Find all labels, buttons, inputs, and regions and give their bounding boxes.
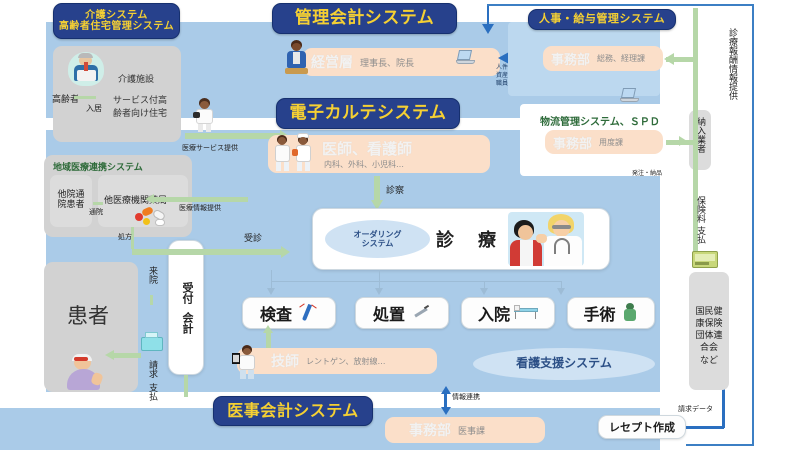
insurance-org-line1: 国民健 — [689, 306, 729, 318]
frame-right — [752, 4, 754, 446]
insurance-green-branch-spd — [666, 140, 696, 145]
reception-down-connector — [184, 375, 188, 397]
test-tube-icon — [298, 303, 318, 323]
claim-data-line — [686, 426, 724, 429]
insurance-green-branch-hr — [666, 57, 696, 62]
medical-info-label: 医療情報提供 — [179, 203, 221, 213]
insurance-org-line2: 康保険 — [689, 318, 729, 330]
other-patients-line1: 他院通 — [50, 190, 92, 200]
proc-arrow-4 — [557, 288, 565, 295]
management-laptop-icon — [456, 50, 478, 66]
hr-payroll-label: 人事・給与管理システム — [539, 13, 665, 25]
medical-office-role-main: 事務部 — [409, 420, 451, 440]
consult-label: 受診 — [244, 231, 262, 244]
care-system-pill[interactable]: 介護システム 高齢者住宅管理システム — [53, 3, 180, 39]
premium-line1: 保険料 — [694, 196, 707, 223]
ordering-line1: オーダリング — [354, 230, 402, 239]
procedure-label-1: 処置 — [373, 301, 405, 325]
procedure-box-1[interactable]: 処置 — [355, 297, 449, 329]
proc-arrow-3 — [480, 288, 488, 295]
medical-office-role-bar: 事務部 医事課 — [385, 417, 545, 443]
other-patients-label: 他院通 院患者 — [50, 190, 92, 211]
medical-info-arrow — [153, 197, 248, 202]
doctor-nurse-icon — [274, 133, 318, 173]
management-accounting-label: 管理会計システム — [295, 9, 435, 28]
hospital-bed-icon — [514, 304, 538, 322]
exam-down-arrow — [374, 176, 380, 201]
procedure-label-3: 手術 — [583, 301, 615, 325]
elderly-person-icon — [66, 50, 106, 88]
patient-person-icon — [62, 355, 106, 391]
syringe-icon — [411, 303, 431, 323]
info-link-label: 情報連携 — [452, 392, 480, 402]
procedure-label-2: 入院 — [478, 301, 510, 325]
doctor-patient-consult-icon — [508, 212, 584, 266]
regional-system-label: 地域医療連携システム — [53, 160, 143, 173]
procedure-box-3[interactable]: 手術 — [567, 297, 655, 329]
proc-drop-2 — [379, 270, 380, 290]
fee-info-label: 診療報酬情報提供 — [726, 28, 739, 100]
care-facility-label: 介護施設 — [118, 72, 154, 85]
technician-role-main: 技師 — [271, 351, 299, 371]
procedure-box-0[interactable]: 検査 — [242, 297, 336, 329]
info-link-arrowhead-up — [441, 386, 451, 394]
hr-role-sub: 総務、経理課 — [597, 53, 645, 64]
nursing-support-ellipse[interactable]: 看護支援システム — [473, 348, 655, 380]
cash-register-icon — [141, 332, 163, 352]
payment-arrow — [113, 353, 141, 358]
billing-line2: 支払 — [146, 383, 159, 401]
care-system-line2: 高齢者住宅管理システム — [59, 21, 174, 32]
logistics-role-sub: 用度課 — [599, 137, 623, 148]
insurance-org-line4: 合会 — [689, 342, 729, 354]
reception-accounting-box[interactable] — [168, 240, 204, 375]
technician-role-sub: レントゲン、放射線… — [306, 356, 386, 367]
frame-bottom — [686, 444, 754, 446]
reception-line1: 受付 — [179, 282, 195, 304]
exam-arrow-label: 診察 — [386, 183, 404, 196]
surgery-icon — [621, 303, 639, 323]
executive-person-icon — [282, 40, 310, 76]
move-in-arrow — [74, 96, 96, 99]
visit-label: 通院 — [89, 207, 103, 217]
reception-left-connector — [132, 249, 204, 255]
emr-pill[interactable]: 電子カルテシステム — [276, 98, 460, 129]
proc-arrow-1 — [267, 288, 275, 295]
medical-service-label: 医療サービス提供 — [182, 143, 238, 153]
medicine-pills-icon — [135, 205, 167, 227]
reception-line2: 会計 — [179, 312, 195, 334]
left-white-gutter — [0, 22, 46, 392]
frame-top — [487, 4, 753, 6]
technician-up-arrowhead — [263, 325, 273, 333]
hr-laptop-icon — [620, 88, 642, 104]
care-housing-line1: サービス付高 — [113, 93, 167, 106]
hr-role-main: 事務部 — [551, 49, 590, 68]
care-housing-line2: 齢者向け住宅 — [113, 106, 167, 119]
procedure-label-0: 検査 — [260, 301, 292, 325]
doctor-outreach-icon — [192, 98, 216, 132]
logistics-system-label: 物流管理システム、ＳＰＤ — [540, 113, 660, 128]
receipt-create-label: レセプト作成 — [609, 419, 675, 435]
visit-arrow — [93, 202, 103, 205]
hr-role-bar: 事務部 総務、経理課 — [543, 46, 663, 71]
order-delivery-label: 発注・納品 — [632, 168, 662, 177]
move-in-label: 入居 — [86, 103, 102, 114]
insurance-org-line5: など — [689, 355, 729, 367]
frame-feed-arrowhead — [482, 24, 494, 34]
medical-accounting-pill[interactable]: 医事会計システム — [213, 396, 373, 426]
ordering-line2: システム — [354, 239, 402, 248]
procedure-box-2[interactable]: 入院 — [461, 297, 555, 329]
info-link-arrowhead-down — [441, 407, 451, 415]
technician-person-icon — [232, 345, 260, 379]
technician-role-bar: 技師 レントゲン、放射線… — [237, 348, 437, 374]
medical-office-role-sub: 医事課 — [458, 424, 485, 437]
billing-line1: 請求 — [146, 360, 159, 378]
prescription-label: 処方 — [118, 232, 132, 242]
hospital-information-system-diagram: 介護システム 高齢者住宅管理システム 高齢者 入居 介護施設 サービス付高 齢者… — [0, 0, 800, 450]
medical-info-arrowhead — [145, 194, 154, 204]
insurance-org-label: 国民健 康保険 団体連 合会 など — [689, 306, 729, 367]
insurance-org-line3: 団体連 — [689, 330, 729, 342]
claim-data-label: 請求データ — [678, 404, 713, 414]
receipt-create-button[interactable]: レセプト作成 — [598, 415, 686, 439]
patient-label: 患者 — [67, 300, 109, 330]
medical-accounting-label: 医事会計システム — [227, 402, 359, 420]
medical-service-arrow — [185, 133, 280, 139]
consult-arrow — [203, 249, 281, 255]
proc-connector-rail — [271, 281, 561, 282]
patient-arrive-label: 来院 — [146, 266, 159, 284]
executive-role-sub: 理事長、院長 — [360, 56, 414, 69]
frame-feed-line — [487, 6, 489, 26]
emr-label: 電子カルテシステム — [290, 104, 447, 123]
hr-payroll-pill[interactable]: 人事・給与管理システム — [528, 9, 676, 30]
treatment-label: 診 療 — [436, 226, 499, 252]
premium-line2: 支払 — [694, 226, 707, 244]
info-link-arrow — [444, 392, 447, 408]
doctor-nurse-role-sub: 内科、外科、小児科… — [324, 159, 412, 170]
insurance-money-icon — [692, 251, 718, 268]
payment-arrowhead — [105, 350, 114, 360]
executive-role-main: 経営層 — [311, 52, 353, 72]
proc-arrow-2 — [375, 288, 383, 295]
management-accounting-pill[interactable]: 管理会計システム — [272, 3, 457, 34]
ordering-system-ellipse[interactable]: オーダリング システム — [325, 220, 430, 258]
other-patients-line2: 院患者 — [50, 200, 92, 210]
logistics-role-bar: 事務部 用度課 — [545, 130, 663, 154]
doctor-nurse-role-main: 医師、看護師 — [322, 138, 412, 159]
consult-arrowhead — [281, 246, 290, 258]
care-system-line1: 介護システム — [59, 10, 174, 21]
nursing-support-label: 看護支援システム — [516, 357, 612, 371]
arrive-arrow — [150, 295, 153, 305]
logistics-role-main: 事務部 — [553, 133, 592, 152]
